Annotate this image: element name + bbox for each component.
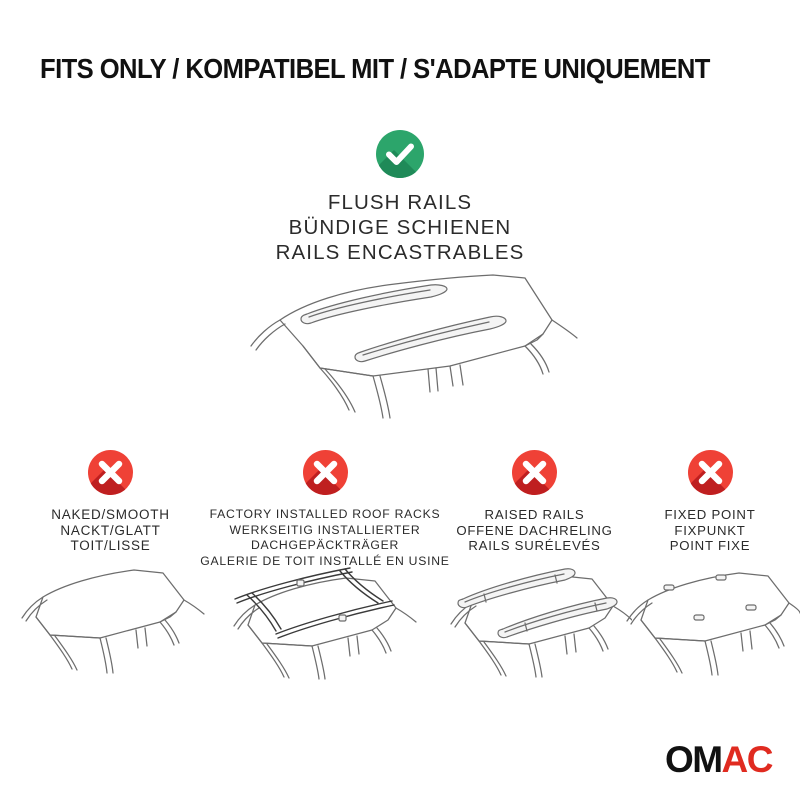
- check-circle-icon: [376, 130, 424, 178]
- car-roof-naked-illustration: [8, 555, 213, 680]
- cross-circle-icon: [688, 450, 733, 495]
- label-de-2: DACHGEPÄCKTRÄGER: [200, 538, 450, 554]
- icon-wrap: [200, 450, 450, 500]
- cross-circle-icon: [303, 450, 348, 495]
- compatible-labels: FLUSH RAILS BÜNDIGE SCHIENEN RAILS ENCAS…: [0, 190, 800, 265]
- label-de: NACKT/GLATT: [8, 523, 213, 539]
- cross-mark-glyph: [303, 450, 348, 495]
- page-title: FITS ONLY / KOMPATIBEL MIT / S'ADAPTE UN…: [40, 53, 728, 85]
- incompatible-item-naked-smooth: NAKED/SMOOTH NACKT/GLATT TOIT/LISSE: [8, 450, 213, 554]
- incompatible-labels: FIXED POINT FIXPUNKT POINT FIXE: [620, 507, 800, 554]
- omac-logo: OMAC: [665, 741, 772, 778]
- compatible-label-de: BÜNDIGE SCHIENEN: [0, 215, 800, 240]
- infographic-page: FITS ONLY / KOMPATIBEL MIT / S'ADAPTE UN…: [0, 0, 800, 800]
- label-de-1: WERKSEITIG INSTALLIERTER: [200, 523, 450, 539]
- label-de: FIXPUNKT: [620, 523, 800, 539]
- logo-text-primary: OM: [665, 739, 722, 780]
- compatible-section: FLUSH RAILS BÜNDIGE SCHIENEN RAILS ENCAS…: [0, 130, 800, 265]
- car-roof-fixed-point-illustration: [620, 555, 800, 680]
- icon-wrap: [437, 450, 632, 500]
- incompatible-labels: NAKED/SMOOTH NACKT/GLATT TOIT/LISSE: [8, 507, 213, 554]
- incompatible-section: NAKED/SMOOTH NACKT/GLATT TOIT/LISSE: [0, 450, 800, 700]
- incompatible-labels: RAISED RAILS OFFENE DACHRELING RAILS SUR…: [437, 507, 632, 554]
- label-en: RAISED RAILS: [437, 507, 632, 523]
- car-roof-factory-racks-illustration: [200, 555, 450, 680]
- cross-mark-glyph: [512, 450, 557, 495]
- icon-wrap: [8, 450, 213, 500]
- compatible-label-fr: RAILS ENCASTRABLES: [0, 240, 800, 265]
- label-fr: POINT FIXE: [620, 538, 800, 554]
- incompatible-item-raised-rails: RAISED RAILS OFFENE DACHRELING RAILS SUR…: [437, 450, 632, 554]
- label-de: OFFENE DACHRELING: [437, 523, 632, 539]
- label-fr: TOIT/LISSE: [8, 538, 213, 554]
- check-mark-glyph: [376, 130, 424, 178]
- car-roof-raised-rails-illustration: [437, 555, 632, 680]
- incompatible-item-factory-racks: FACTORY INSTALLED ROOF RACKS WERKSEITIG …: [200, 450, 450, 569]
- car-roof-flush-rails-illustration: [225, 268, 595, 433]
- label-en: NAKED/SMOOTH: [8, 507, 213, 523]
- icon-wrap: [620, 450, 800, 500]
- cross-circle-icon: [88, 450, 133, 495]
- label-fr: RAILS SURÉLEVÉS: [437, 538, 632, 554]
- label-en: FACTORY INSTALLED ROOF RACKS: [200, 507, 450, 523]
- cross-circle-icon: [512, 450, 557, 495]
- cross-mark-glyph: [688, 450, 733, 495]
- label-en: FIXED POINT: [620, 507, 800, 523]
- logo-text-secondary: AC: [722, 739, 772, 780]
- incompatible-item-fixed-point: FIXED POINT FIXPUNKT POINT FIXE: [620, 450, 800, 554]
- compatible-label-en: FLUSH RAILS: [0, 190, 800, 215]
- cross-mark-glyph: [88, 450, 133, 495]
